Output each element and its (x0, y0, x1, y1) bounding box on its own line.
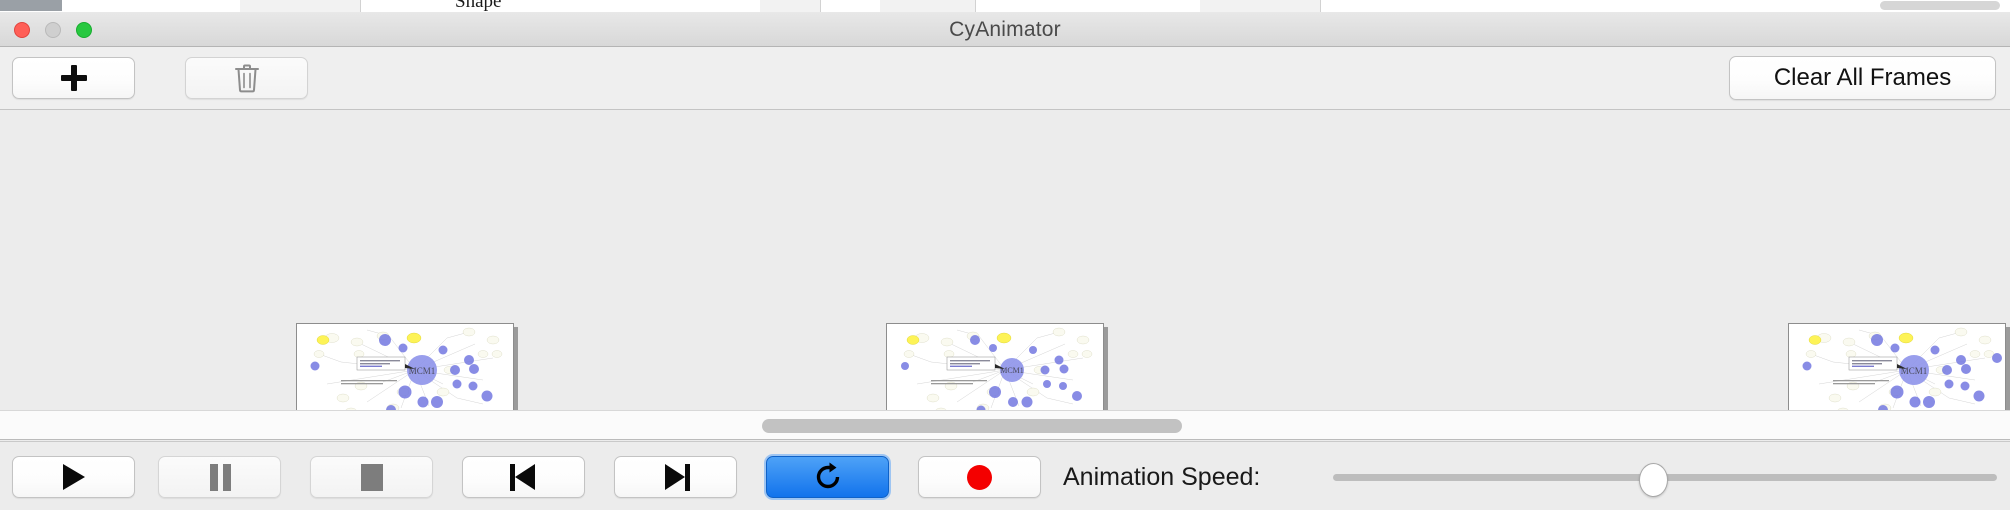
background-dark-block (0, 0, 62, 11)
network-thumbnail-graph: MCM1 (297, 324, 513, 410)
hub-node-label: MCM1 (1000, 366, 1024, 375)
delete-frame-button[interactable] (185, 57, 308, 99)
playback-control-bar: Animation Speed: (0, 441, 2010, 510)
close-button[interactable] (14, 22, 30, 38)
timeline-frame-thumbnail[interactable]: MCM1 (296, 323, 514, 410)
hub-node-label: MCM1 (1901, 366, 1928, 376)
background-tab (880, 0, 976, 12)
record-icon (967, 465, 992, 490)
timeline-panel[interactable]: MCM1 (0, 110, 2010, 410)
background-tab (1200, 0, 1321, 12)
background-scrollbar (1880, 1, 2000, 10)
clear-all-frames-label: Clear All Frames (1774, 64, 1951, 92)
window-title: CyAnimator (0, 12, 2010, 47)
plus-icon (59, 63, 89, 93)
skip-to-end-button[interactable] (614, 456, 737, 498)
skip-end-icon (661, 464, 691, 491)
stop-button[interactable] (310, 456, 433, 498)
network-thumbnail-graph: MCM1 (1789, 324, 2005, 410)
skip-start-icon (509, 464, 539, 491)
loop-icon (813, 462, 843, 492)
title-bar: CyAnimator (0, 12, 2010, 47)
animation-speed-label: Animation Speed: (1063, 456, 1260, 498)
play-button[interactable] (12, 456, 135, 498)
trash-icon (234, 63, 260, 93)
skip-to-start-button[interactable] (462, 456, 585, 498)
add-frame-button[interactable] (12, 57, 135, 99)
toolbar: Clear All Frames (0, 47, 2010, 110)
timeline-frame-thumbnail[interactable]: MCM1 (1788, 323, 2006, 410)
timeline-horizontal-scrollbar[interactable] (0, 410, 2010, 440)
play-icon (63, 464, 85, 490)
scrollbar-thumb[interactable] (762, 419, 1182, 433)
hub-node-label: MCM1 (409, 366, 436, 376)
maximize-button[interactable] (76, 22, 92, 38)
cyanimator-window: Shape CyAnimator Clear All Frames (0, 0, 2010, 510)
loop-button[interactable] (766, 456, 889, 498)
animation-speed-slider[interactable] (1333, 456, 1997, 498)
background-tab (760, 0, 821, 12)
record-button[interactable] (918, 456, 1041, 498)
clear-all-frames-button[interactable]: Clear All Frames (1729, 56, 1996, 100)
pause-button[interactable] (158, 456, 281, 498)
slider-thumb[interactable] (1639, 463, 1668, 497)
minimize-button[interactable] (45, 22, 61, 38)
background-tab (240, 0, 361, 12)
network-thumbnail-graph: MCM1 (887, 324, 1103, 410)
timeline-frame-thumbnail[interactable]: MCM1 (886, 323, 1104, 410)
pause-icon (208, 464, 232, 491)
stop-icon (361, 464, 383, 491)
